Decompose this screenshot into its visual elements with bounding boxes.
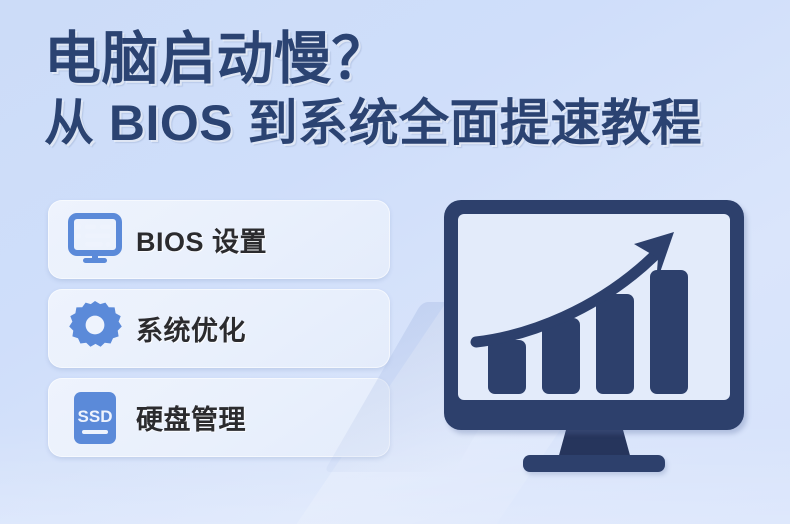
ssd-icon-text: SSD xyxy=(78,407,113,426)
gear-icon xyxy=(64,298,126,360)
chart-bar-4 xyxy=(650,270,688,394)
bios-monitor-icon xyxy=(64,209,126,271)
title-line-secondary: 从 BIOS 到系统全面提速教程 xyxy=(44,98,774,149)
growth-bar-chart-with-arrow xyxy=(458,214,730,400)
feature-card-label: 系统优化 xyxy=(136,309,246,348)
feature-card-bios[interactable]: BIOS 设置 xyxy=(48,200,390,279)
feature-card-system-optimization[interactable]: 系统优化 xyxy=(48,289,390,368)
feature-card-label: BIOS 设置 xyxy=(136,220,267,259)
page-title: 电脑启动慢？ 从 BIOS 到系统全面提速教程 xyxy=(44,30,774,149)
feature-card-label: 硬盘管理 xyxy=(136,398,246,437)
monitor-stand-base xyxy=(523,455,665,472)
chart-bar-3 xyxy=(596,294,634,394)
poster-canvas: 电脑启动慢？ 从 BIOS 到系统全面提速教程 BIO xyxy=(0,0,790,524)
title-line-primary: 电脑启动慢？ xyxy=(44,30,774,88)
feature-card-list: BIOS 设置 系统优化 SSD 硬盘管理 xyxy=(48,200,390,467)
chart-bar-1 xyxy=(488,340,526,394)
ssd-icon: SSD xyxy=(64,387,126,449)
desktop-monitor-illustration xyxy=(428,197,776,479)
monitor-screen xyxy=(458,214,730,400)
monitor-bezel xyxy=(444,200,744,430)
